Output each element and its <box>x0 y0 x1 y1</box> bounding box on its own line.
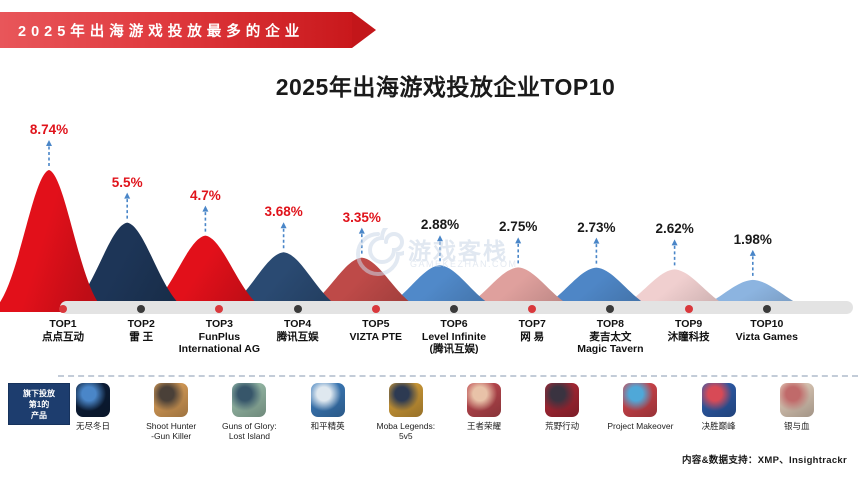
value-arrow-icon <box>593 238 599 244</box>
pubg-soldier-icon[interactable] <box>311 383 345 417</box>
island-hunter-icon[interactable] <box>232 383 266 417</box>
moba-hero-icon[interactable] <box>389 383 423 417</box>
value-arrow-icon <box>515 237 521 243</box>
value-arrow-icon <box>202 206 208 212</box>
value-arrow-icon <box>750 250 756 256</box>
value-arrow-icon <box>124 193 130 199</box>
peak-chart-svg <box>0 100 861 312</box>
value-label-top3: 4.7% <box>190 188 221 203</box>
page-title: 2025年出海游戏投放企业TOP10 <box>0 68 861 102</box>
value-arrow-icon <box>359 228 365 234</box>
axis-dot-top6 <box>450 305 458 313</box>
value-label-top5: 3.35% <box>343 210 381 225</box>
axis-dot-top10 <box>763 305 771 313</box>
rank-label-row: TOP1点点互动TOP2雷 王TOP3FunPlusInternational … <box>0 318 861 370</box>
company-name-line2: (腾讯互娱) <box>395 343 513 356</box>
axis-baseline <box>60 301 853 314</box>
axis-dot-top7 <box>528 305 536 313</box>
honor-king-icon[interactable] <box>467 383 501 417</box>
value-label-top9: 2.62% <box>655 221 693 236</box>
value-arrow-icon <box>46 140 52 146</box>
shooter-soldier-icon[interactable] <box>154 383 188 417</box>
section-divider <box>58 375 858 377</box>
value-label-top4: 3.68% <box>264 204 302 219</box>
ribbon-arrow-icon <box>352 12 376 48</box>
ribbon-label: 2025年出海游戏投放最多的企业 <box>0 20 304 41</box>
product-name-line2: Lost Island <box>194 431 304 441</box>
winter-globe-icon[interactable] <box>76 383 110 417</box>
company-name-line2: Magic Tavern <box>551 343 669 356</box>
axis-dot-top4 <box>294 305 302 313</box>
rank-label-top10[interactable]: TOP10Vizta Games <box>708 318 826 343</box>
product-name-line2: 5v5 <box>351 431 461 441</box>
value-label-top7: 2.75% <box>499 219 537 234</box>
knives-out-icon[interactable] <box>545 383 579 417</box>
value-label-top8: 2.73% <box>577 220 615 235</box>
axis-dot-top1 <box>59 305 67 313</box>
value-label-top6: 2.88% <box>421 217 459 232</box>
axis-dot-top9 <box>685 305 693 313</box>
company-name-line2: International AG <box>160 343 278 356</box>
company-name: Vizta Games <box>708 331 826 344</box>
axis-dot-top3 <box>215 305 223 313</box>
product-item-10[interactable]: 银与血 <box>742 383 852 431</box>
axis-dot-top5 <box>372 305 380 313</box>
peak-battle-icon[interactable] <box>702 383 736 417</box>
value-label-top1: 8.74% <box>30 122 68 137</box>
silver-blood-icon[interactable] <box>780 383 814 417</box>
axis-dot-top2 <box>137 305 145 313</box>
value-arrow-icon <box>437 235 443 241</box>
value-label-top10: 1.98% <box>734 232 772 247</box>
value-label-top2: 5.5% <box>112 175 143 190</box>
value-arrow-icon <box>281 222 287 228</box>
axis-dot-top8 <box>606 305 614 313</box>
header-ribbon: 2025年出海游戏投放最多的企业 <box>0 12 352 48</box>
value-arrow-icon <box>672 239 678 245</box>
rank-number: TOP10 <box>708 318 826 331</box>
makeover-girl-icon[interactable] <box>623 383 657 417</box>
product-name: 银与血 <box>742 421 852 431</box>
footer-credit: 内容&数据支持：XMP、Insightrackr <box>682 452 847 466</box>
peak-chart: 8.74%5.5%4.7%3.68%3.35%2.88%2.75%2.73%2.… <box>0 100 861 312</box>
